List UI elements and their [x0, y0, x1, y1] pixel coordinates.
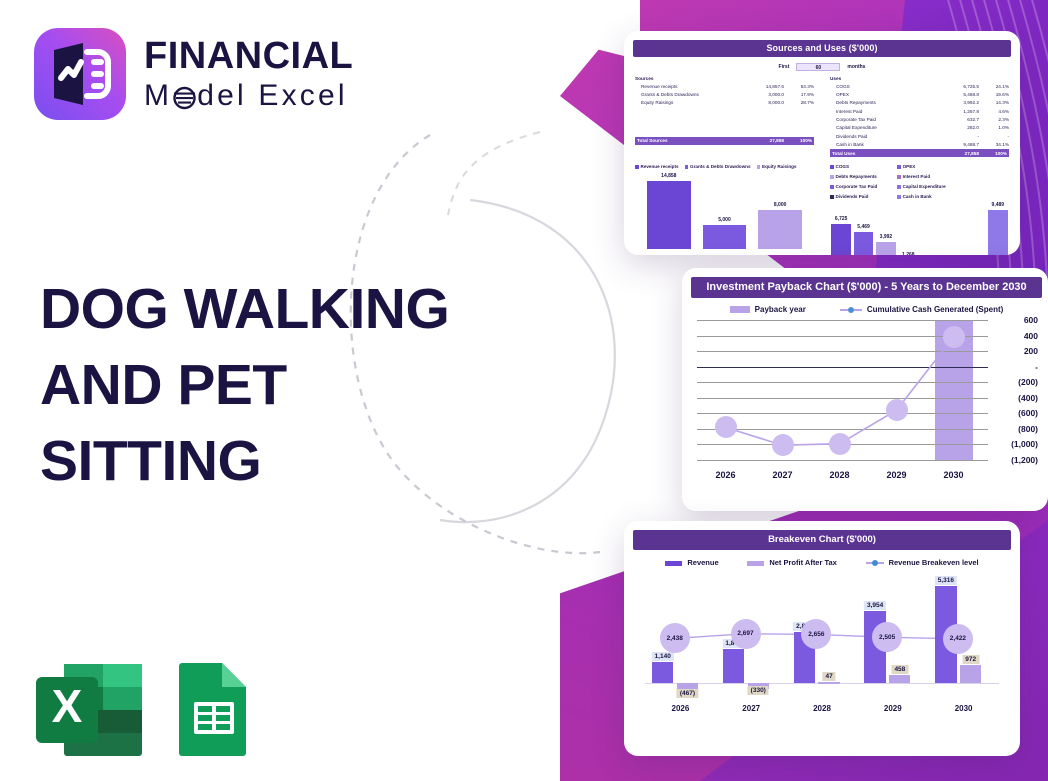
bar-group: 282: [943, 202, 963, 255]
source-percent: 28.7%: [784, 99, 814, 107]
page-title: DOG WALKING AND PET SITTING: [40, 272, 510, 499]
legend-item: Dividends Paid: [830, 194, 889, 199]
microsoft-excel-icon: X: [34, 660, 144, 765]
breakeven-legend-item-2: Revenue Breakeven level: [866, 558, 979, 567]
use-amount: 632.7: [941, 116, 979, 124]
revenue-value-label: 1,140: [652, 652, 674, 661]
x-axis-tick-label: 2029: [857, 704, 928, 713]
bar-rect: [854, 232, 874, 255]
source-amount: 3,000.0: [746, 91, 784, 99]
uses-bar-chart: COGSOPEXDebts RepaymentsInterest PaidCor…: [830, 164, 1009, 255]
svg-text:X: X: [52, 680, 83, 732]
use-amount: 282.0: [941, 124, 979, 132]
table-row: Dividends Paid--: [830, 133, 1009, 141]
legend-label: Equity Raisings: [762, 164, 796, 169]
use-percent: 19.6%: [979, 91, 1009, 99]
use-percent: 1.0%: [979, 124, 1009, 132]
sources-column: Sources Revenue receipts14,857.653.3%Gra…: [635, 76, 814, 157]
revenue-swatch-icon: [665, 561, 682, 566]
legend-swatch-icon: [685, 165, 689, 169]
legend-swatch-icon: [897, 165, 901, 169]
investment-payback-card[interactable]: Investment Payback Chart ($'000) - 5 Yea…: [682, 268, 1048, 511]
cumulative-cash-line-swatch-icon: [840, 309, 862, 311]
brand-o-glyph-icon: [172, 81, 197, 111]
payback-chart-title: Investment Payback Chart ($'000) - 5 Yea…: [691, 277, 1042, 298]
source-amount: 8,000.0: [746, 99, 784, 107]
bar-rect: [831, 224, 851, 255]
bar-group: 9,489: [988, 202, 1008, 255]
net-profit-bar: [889, 675, 910, 683]
total-uses-amount: 27,858: [941, 151, 979, 156]
sources-bar-chart: Revenue receiptsGrants & Debts Drawdowns…: [635, 164, 814, 255]
bar-group: 1,268: [898, 202, 918, 255]
use-amount: -: [941, 133, 979, 141]
use-amount: 5,468.8: [941, 91, 979, 99]
payback-year-swatch-icon: [730, 306, 750, 313]
table-row: Revenue receipts14,857.653.3%: [635, 83, 814, 91]
months-control-row: First 60 months: [633, 63, 1011, 71]
use-percent: 24.1%: [979, 83, 1009, 91]
breakeven-legend-item-1: Net Profit After Tax: [747, 558, 837, 567]
y-axis-tick-label: (400): [1018, 393, 1038, 403]
net-profit-value-label: (467): [677, 689, 698, 698]
table-row: Grants & Debts Drawdowns3,000.017.9%: [635, 91, 814, 99]
table-row: Equity Raisings8,000.028.7%: [635, 99, 814, 107]
bar-rect: [703, 225, 746, 250]
bar-rect: [988, 210, 1008, 255]
legend-swatch-icon: [635, 165, 639, 169]
x-axis-tick-label: 2027: [716, 704, 787, 713]
legend-label: OPEX: [903, 164, 916, 169]
net-profit-value-label: 972: [962, 655, 979, 664]
bar-value-label: 3,992: [880, 234, 893, 240]
months-prefix-label: First: [779, 64, 790, 70]
net-profit-bar: [960, 665, 981, 683]
bar-group: 633: [921, 202, 941, 255]
breakeven-chart-card[interactable]: Breakeven Chart ($'000) Revenue Net Prof…: [624, 521, 1020, 756]
total-sources-amount: 27,858: [746, 138, 784, 143]
table-row: COGS6,725.524.1%: [830, 83, 1009, 91]
legend-label: Capital Expenditure: [903, 184, 946, 189]
brand-line2-prefix: M: [144, 81, 172, 111]
app-icon-row: X: [34, 660, 252, 765]
data-point-marker: [829, 433, 851, 455]
payback-legend: Payback year Cumulative Cash Generated (…: [691, 305, 1042, 314]
use-name: Debts Repayments: [830, 99, 941, 107]
y-axis-tick-label: -: [1035, 362, 1038, 372]
revenue-bar: [652, 662, 673, 683]
x-axis-tick-label: 2030: [925, 470, 982, 480]
brand-name-line1: FINANCIAL: [144, 37, 353, 75]
brand-name-line2: M del Excel: [144, 81, 353, 111]
table-row: Interest Paid1,267.84.6%: [830, 108, 1009, 116]
total-sources-percent: 100%: [784, 138, 814, 143]
brand-logo: FINANCIAL M del Excel: [34, 28, 353, 120]
breakeven-plot-area: 1,140(467)2,4381,848(330)2,6972,814472,6…: [645, 573, 999, 698]
payback-legend-label-0: Payback year: [755, 305, 806, 314]
source-name: Revenue receipts: [635, 83, 746, 91]
net-profit-swatch-icon: [747, 561, 764, 566]
x-axis-tick-label: 2029: [868, 470, 925, 480]
revenue-value-label: 5,316: [935, 576, 957, 585]
bar-group: 6,725: [831, 202, 851, 255]
sources-uses-table: Sources Revenue receipts14,857.653.3%Gra…: [633, 76, 1011, 157]
sources-uses-title: Sources and Uses ($'000): [633, 40, 1011, 57]
use-percent: 4.6%: [979, 108, 1009, 116]
legend-swatch-icon: [830, 165, 834, 169]
source-name: Grants & Debts Drawdowns: [635, 91, 746, 99]
y-axis-tick-label: (600): [1018, 408, 1038, 418]
source-name: Equity Raisings: [635, 99, 746, 107]
sources-chart-legend: Revenue receiptsGrants & Debts Drawdowns…: [635, 164, 814, 169]
table-row: Cash in Bank9,488.734.1%: [830, 141, 1009, 149]
bar-group: 5,000: [703, 173, 746, 249]
bar-value-label: 8,000: [774, 202, 787, 208]
breakeven-legend: Revenue Net Profit After Tax Revenue Bre…: [651, 558, 993, 567]
net-profit-bar: [818, 682, 839, 684]
y-axis-tick-label: (800): [1018, 424, 1038, 434]
use-name: OPEX: [830, 91, 941, 99]
bar-value-label: 5,000: [718, 217, 731, 223]
use-percent: 34.1%: [979, 141, 1009, 149]
legend-label: COGS: [836, 164, 850, 169]
bar-group: 8,000: [758, 173, 801, 249]
use-name: COGS: [830, 83, 941, 91]
breakeven-legend-label-1: Net Profit After Tax: [769, 558, 837, 567]
breakeven-legend-label-0: Revenue: [687, 558, 718, 567]
x-axis-tick-label: 2026: [697, 470, 754, 480]
total-sources-row: Total Sources 27,858 100%: [635, 137, 814, 145]
data-point-marker: [943, 326, 965, 348]
bar-value-label: 1,268: [902, 252, 915, 255]
total-uses-percent: 100%: [979, 151, 1009, 156]
revenue-bar: [723, 649, 744, 683]
use-name: Interest Paid: [830, 108, 941, 116]
bar-group: 5,469: [854, 202, 874, 255]
bar-rect: [876, 242, 896, 255]
use-name: Capital Expenditure: [830, 124, 941, 132]
bar-rect: [758, 210, 801, 249]
legend-item: Debts Repayments: [830, 174, 889, 179]
source-percent: 17.9%: [784, 91, 814, 99]
bar-rect: [647, 181, 690, 249]
bar-value-label: 5,469: [857, 224, 870, 230]
sources-and-uses-card[interactable]: Sources and Uses ($'000) First 60 months…: [624, 31, 1020, 255]
data-point-marker: [715, 416, 737, 438]
use-amount: 1,267.8: [941, 108, 979, 116]
breakeven-level-marker: 2,697: [731, 619, 761, 649]
use-amount: 3,992.2: [941, 99, 979, 107]
y-axis-tick-label: 400: [1024, 331, 1038, 341]
legend-item: Corporate Tax Paid: [830, 184, 889, 189]
financial-model-excel-logo-icon: [34, 28, 126, 120]
bar-value-label: 9,489: [992, 202, 1005, 208]
y-axis-tick-label: (1,000): [1011, 439, 1038, 449]
y-axis-tick-label: 600: [1024, 315, 1038, 325]
payback-legend-item-1: Cumulative Cash Generated (Spent): [840, 305, 1003, 314]
uses-heading: Uses: [830, 76, 1009, 81]
y-axis-tick-label: (200): [1018, 377, 1038, 387]
bar-group: 3,992: [876, 202, 896, 255]
use-name: Dividends Paid: [830, 133, 941, 141]
legend-label: Debts Repayments: [836, 174, 877, 179]
payback-x-axis-labels: 20262027202820292030: [697, 470, 982, 480]
total-uses-label: Total Uses: [830, 151, 941, 156]
legend-swatch-icon: [830, 195, 834, 199]
y-axis-tick-label: 200: [1024, 346, 1038, 356]
breakeven-legend-label-2: Revenue Breakeven level: [889, 558, 979, 567]
y-axis-tick-label: (1,200): [1011, 455, 1038, 465]
use-percent: 14.3%: [979, 99, 1009, 107]
breakeven-level-marker: 2,656: [801, 619, 831, 649]
net-profit-value-label: 458: [891, 665, 908, 674]
sources-heading: Sources: [635, 76, 814, 81]
payback-plot-area: 600400200-(200)(400)(600)(800)(1,000)(1,…: [697, 320, 982, 460]
legend-item: Interest Paid: [897, 174, 956, 179]
table-row: Debts Repayments3,992.214.3%: [830, 99, 1009, 107]
x-axis-tick-label: 2028: [787, 704, 858, 713]
months-input[interactable]: 60: [796, 63, 840, 71]
breakeven-level-marker: 2,438: [660, 623, 690, 653]
legend-label: Revenue receipts: [641, 164, 679, 169]
breakeven-x-axis-labels: 20262027202820292030: [645, 704, 999, 713]
months-suffix-label: months: [847, 64, 865, 70]
legend-item: Grants & Debts Drawdowns: [685, 164, 751, 169]
legend-item: Capital Expenditure: [897, 184, 956, 189]
x-axis-tick-label: 2028: [811, 470, 868, 480]
legend-label: Corporate Tax Paid: [836, 184, 878, 189]
uses-bars: 6,7255,4693,9921,26863328209,489: [830, 202, 1009, 255]
use-amount: 9,488.7: [941, 141, 979, 149]
bar-group: 14,858: [647, 173, 690, 249]
legend-label: Dividends Paid: [836, 194, 869, 199]
legend-item: OPEX: [897, 164, 956, 169]
legend-label: Interest Paid: [903, 174, 931, 179]
payback-legend-item-0: Payback year: [730, 305, 806, 314]
table-row: OPEX5,468.819.6%: [830, 91, 1009, 99]
left-panel: FINANCIAL M del Excel DOG WALKING AND PE…: [0, 0, 560, 781]
x-axis-tick-label: 2027: [754, 470, 811, 480]
breakeven-level-marker: 2,505: [872, 622, 902, 652]
gridline: [697, 460, 988, 461]
legend-item: Revenue receipts: [635, 164, 679, 169]
table-row: Corporate Tax Paid632.72.3%: [830, 116, 1009, 124]
use-amount: 6,725.5: [941, 83, 979, 91]
legend-item: Cash in Bank: [897, 194, 956, 199]
breakeven-legend-item-0: Revenue: [665, 558, 718, 567]
legend-item: Equity Raisings: [757, 164, 797, 169]
revenue-value-label: 3,954: [864, 601, 886, 610]
legend-swatch-icon: [830, 185, 834, 189]
breakeven-chart-title: Breakeven Chart ($'000): [633, 530, 1011, 550]
source-percent: 53.3%: [784, 83, 814, 91]
use-name: Corporate Tax Paid: [830, 116, 941, 124]
legend-swatch-icon: [757, 165, 761, 169]
total-sources-label: Total Sources: [635, 138, 746, 143]
net-profit-value-label: (330): [748, 686, 769, 695]
bar-value-label: 14,858: [661, 173, 676, 179]
x-axis-tick-label: 2030: [928, 704, 999, 713]
legend-swatch-icon: [897, 185, 901, 189]
table-row: Capital Expenditure282.01.0%: [830, 124, 1009, 132]
data-point-marker: [886, 399, 908, 421]
use-percent: -: [979, 133, 1009, 141]
legend-label: Cash in Bank: [903, 194, 932, 199]
brand-line2-suffix: del Excel: [197, 81, 348, 111]
breakeven-level-marker: 2,422: [943, 624, 973, 654]
legend-swatch-icon: [897, 175, 901, 179]
legend-swatch-icon: [897, 195, 901, 199]
google-sheets-icon: [176, 660, 252, 765]
legend-swatch-icon: [830, 175, 834, 179]
bar-group: 0: [966, 202, 986, 255]
bar-value-label: 6,725: [835, 216, 848, 222]
use-name: Cash in Bank: [830, 141, 941, 149]
data-point-marker: [772, 434, 794, 456]
source-amount: 14,857.6: [746, 83, 784, 91]
uses-chart-legend: COGSOPEXDebts RepaymentsInterest PaidCor…: [830, 164, 1009, 199]
payback-y-axis-labels: 600400200-(200)(400)(600)(800)(1,000)(1,…: [984, 320, 1040, 460]
payback-legend-label-1: Cumulative Cash Generated (Spent): [867, 305, 1003, 314]
breakeven-level-line-swatch-icon: [866, 562, 884, 564]
sources-bars: 14,8585,0008,000: [635, 173, 814, 249]
x-axis-tick-label: 2026: [645, 704, 716, 713]
legend-item: COGS: [830, 164, 889, 169]
use-percent: 2.3%: [979, 116, 1009, 124]
total-uses-row: Total Uses 27,858 100%: [830, 149, 1009, 157]
legend-label: Grants & Debts Drawdowns: [690, 164, 751, 169]
uses-column: Uses COGS6,725.524.1%OPEX5,468.819.6%Deb…: [830, 76, 1009, 157]
net-profit-value-label: 47: [822, 672, 835, 681]
